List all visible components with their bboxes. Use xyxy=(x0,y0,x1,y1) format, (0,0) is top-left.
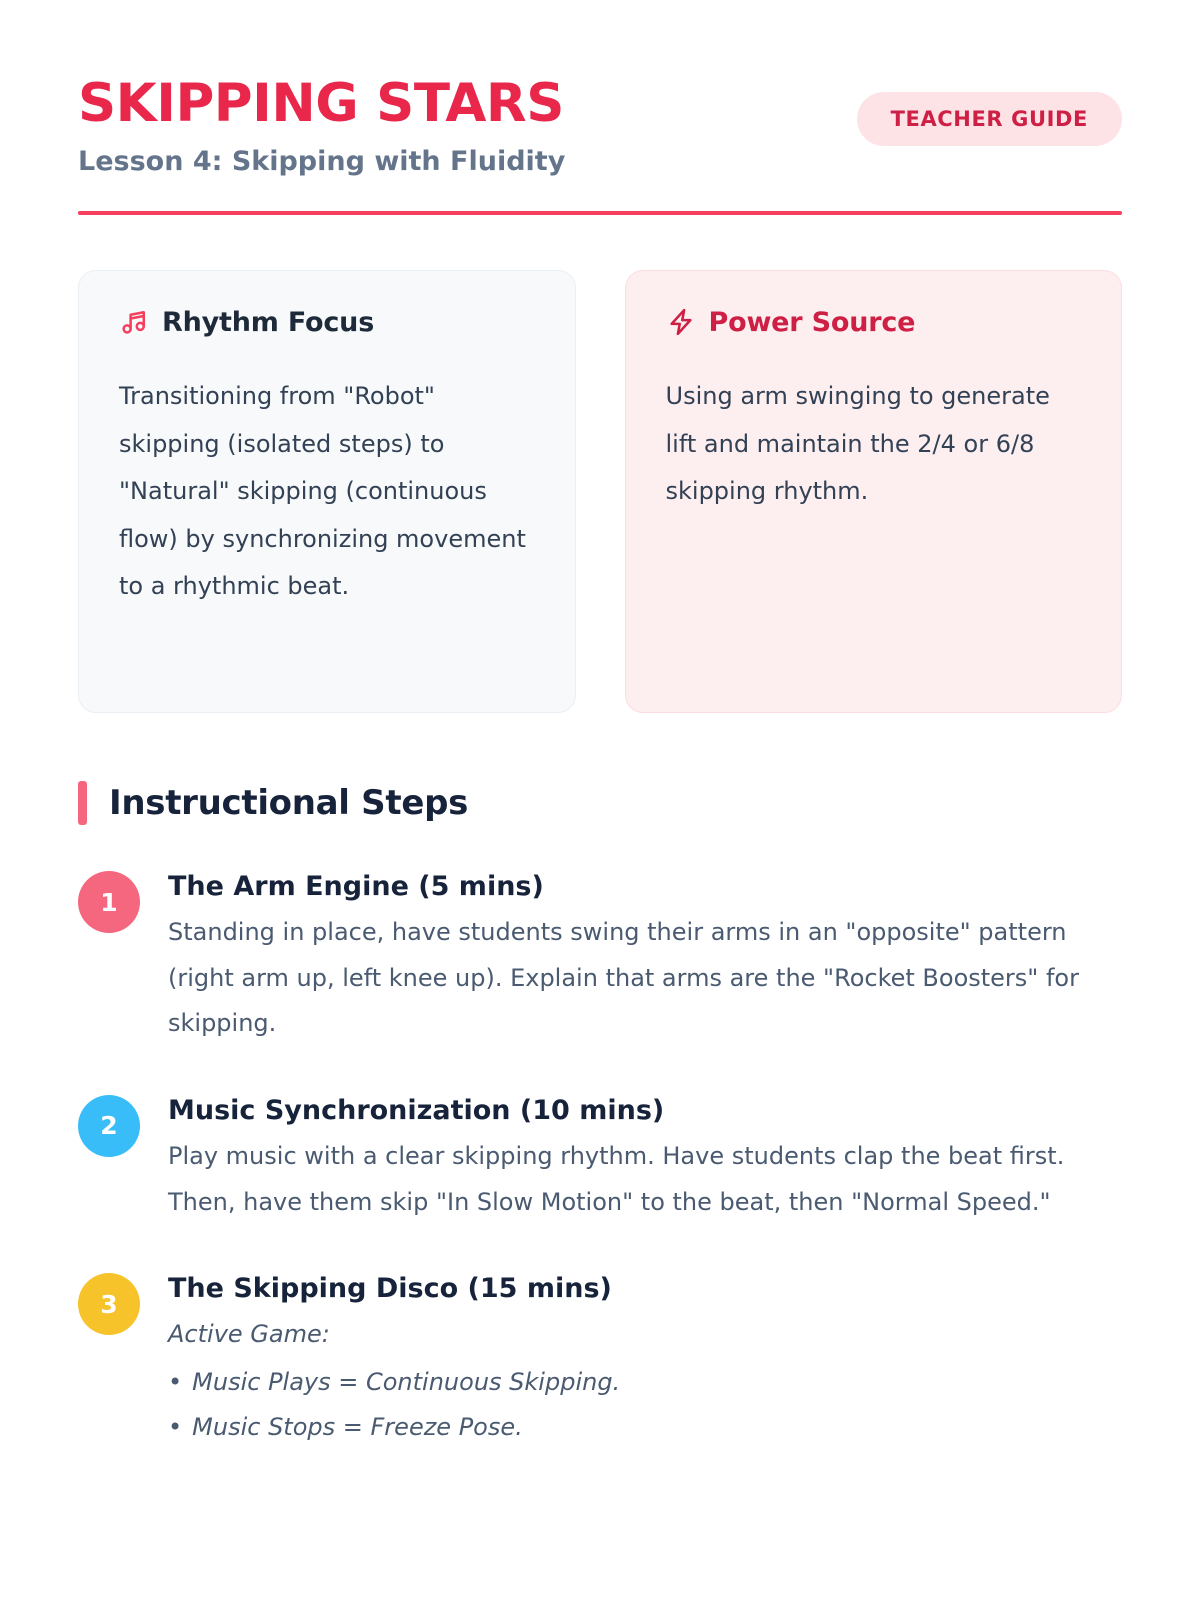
step-number-badge: 3 xyxy=(78,1273,140,1335)
step-content: The Skipping Disco (15 mins) Active Game… xyxy=(168,1269,1122,1451)
list-item: 1 The Arm Engine (5 mins) Standing in pl… xyxy=(78,867,1122,1047)
header-divider xyxy=(78,211,1122,215)
section-accent-bar xyxy=(78,781,87,825)
step-description: Active Game: xyxy=(168,1312,1122,1358)
steps-list: 1 The Arm Engine (5 mins) Standing in pl… xyxy=(78,867,1122,1451)
step-title: The Arm Engine (5 mins) xyxy=(168,869,1122,904)
lightning-bolt-icon xyxy=(666,307,696,337)
list-item: Music Stops = Freeze Pose. xyxy=(168,1405,1122,1451)
section-title: Instructional Steps xyxy=(109,783,468,823)
instructional-steps-heading: Instructional Steps xyxy=(78,781,1122,825)
list-item: 3 The Skipping Disco (15 mins) Active Ga… xyxy=(78,1269,1122,1451)
rhythm-focus-card: Rhythm Focus Transitioning from "Robot" … xyxy=(78,270,576,713)
card-header: Power Source xyxy=(666,307,1082,337)
step-bullet-list: Music Plays = Continuous Skipping. Music… xyxy=(168,1360,1122,1451)
step-description: Play music with a clear skipping rhythm.… xyxy=(168,1134,1122,1225)
card-header: Rhythm Focus xyxy=(119,307,535,337)
step-title: The Skipping Disco (15 mins) xyxy=(168,1271,1122,1306)
header-text-group: SKIPPING STARS Lesson 4: Skipping with F… xyxy=(78,70,565,178)
step-number-badge: 1 xyxy=(78,871,140,933)
document-header: SKIPPING STARS Lesson 4: Skipping with F… xyxy=(78,70,1122,178)
step-content: Music Synchronization (10 mins) Play mus… xyxy=(168,1091,1122,1225)
teacher-guide-badge: TEACHER GUIDE xyxy=(857,92,1122,146)
power-source-card: Power Source Using arm swinging to gener… xyxy=(625,270,1123,713)
card-body-text: Using arm swinging to generate lift and … xyxy=(666,373,1082,516)
lesson-plan-page: SKIPPING STARS Lesson 4: Skipping with F… xyxy=(0,0,1200,1600)
page-title: SKIPPING STARS xyxy=(78,76,565,132)
step-title: Music Synchronization (10 mins) xyxy=(168,1093,1122,1128)
card-title: Rhythm Focus xyxy=(162,309,374,336)
music-note-icon xyxy=(119,307,149,337)
step-content: The Arm Engine (5 mins) Standing in plac… xyxy=(168,867,1122,1047)
list-item: 2 Music Synchronization (10 mins) Play m… xyxy=(78,1091,1122,1225)
card-title: Power Source xyxy=(709,309,916,336)
step-number-badge: 2 xyxy=(78,1095,140,1157)
card-body-text: Transitioning from "Robot" skipping (iso… xyxy=(119,373,535,611)
summary-cards: Rhythm Focus Transitioning from "Robot" … xyxy=(78,270,1122,713)
list-item: Music Plays = Continuous Skipping. xyxy=(168,1360,1122,1406)
step-description: Standing in place, have students swing t… xyxy=(168,910,1122,1047)
page-subtitle: Lesson 4: Skipping with Fluidity xyxy=(78,146,565,178)
